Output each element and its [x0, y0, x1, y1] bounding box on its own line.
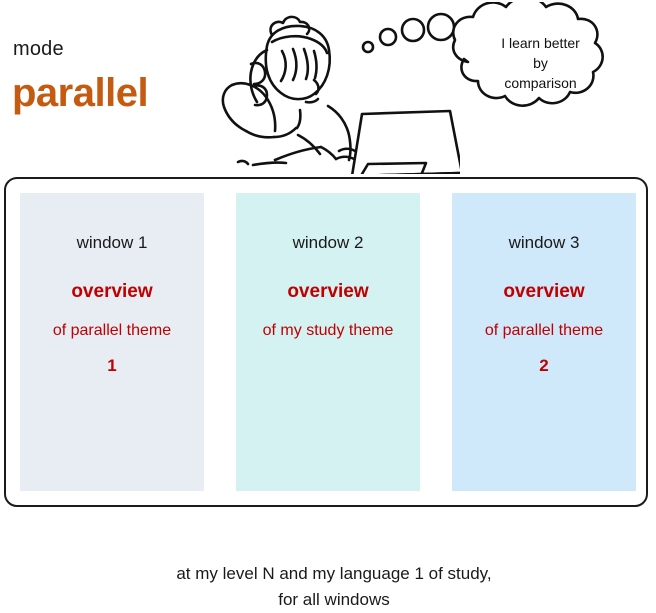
- windows-panel: window 1 overview of parallel theme 1 wi…: [4, 177, 648, 507]
- thought-bubble-line-3: comparison: [463, 73, 618, 93]
- window-1-title: window 1: [20, 233, 204, 253]
- header-area: mode parallel: [0, 0, 656, 175]
- windows-columns-row: window 1 overview of parallel theme 1 wi…: [20, 193, 636, 491]
- window-1-theme-number: 1: [20, 356, 204, 376]
- window-1-overview-heading: overview: [20, 281, 204, 303]
- window-column-3[interactable]: window 3 overview of parallel theme 2: [452, 193, 636, 491]
- panel-caption: at my level N and my language 1 of study…: [20, 561, 648, 613]
- panel-caption-line-2: for all windows: [20, 587, 648, 613]
- window-2-subtitle: of my study theme: [236, 320, 420, 342]
- window-2-overview-heading: overview: [236, 281, 420, 303]
- window-1-subtitle: of parallel theme: [20, 320, 204, 342]
- window-3-overview-heading: overview: [452, 281, 636, 303]
- window-column-1[interactable]: window 1 overview of parallel theme 1: [20, 193, 204, 491]
- panel-caption-line-1: at my level N and my language 1 of study…: [20, 561, 648, 587]
- thought-bubble-text: I learn better by comparison: [463, 33, 618, 93]
- window-3-subtitle: of parallel theme: [452, 320, 636, 342]
- mode-value: parallel: [12, 70, 148, 116]
- window-3-theme-number: 2: [452, 356, 636, 376]
- window-3-title: window 3: [452, 233, 636, 253]
- window-column-2[interactable]: window 2 overview of my study theme: [236, 193, 420, 491]
- window-2-title: window 2: [236, 233, 420, 253]
- thought-bubble-line-2: by: [463, 53, 618, 73]
- mode-label: mode: [13, 38, 64, 60]
- thought-bubble-line-1: I learn better: [463, 33, 618, 53]
